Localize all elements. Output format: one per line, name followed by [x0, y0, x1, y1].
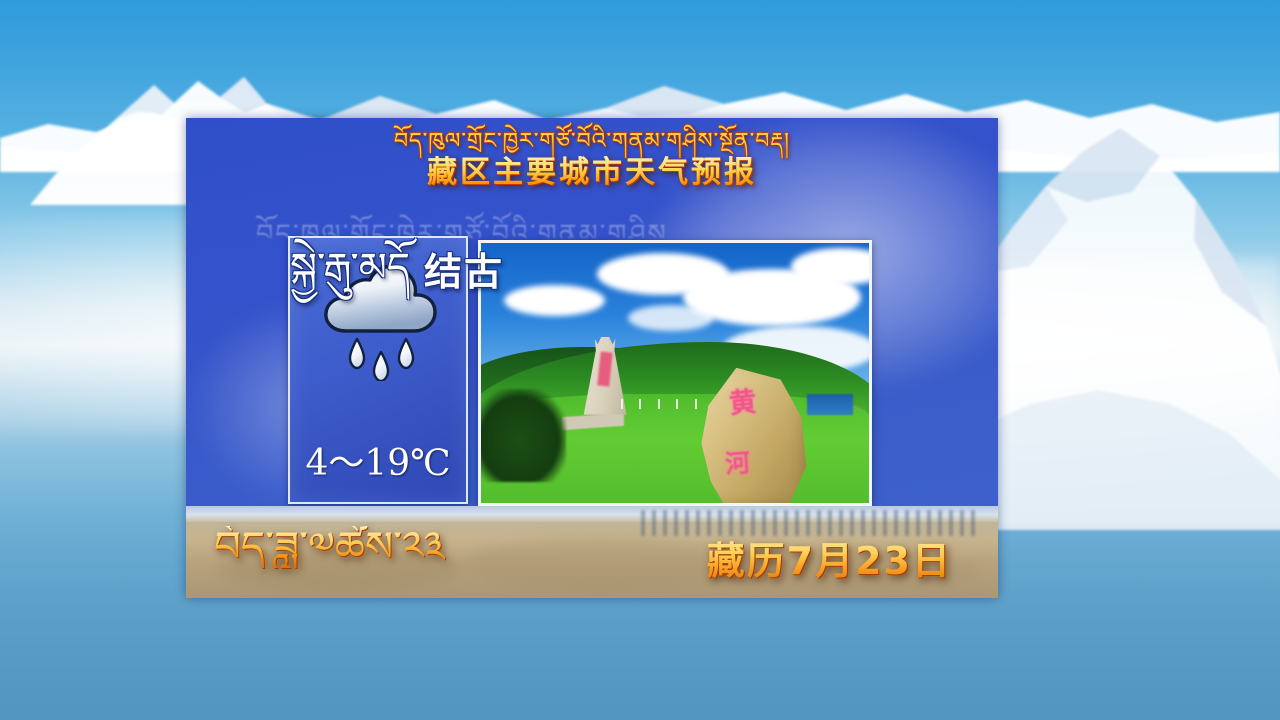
- city-name-group: སྐྱེ་རྒུ་མདོ 结古: [290, 238, 620, 298]
- photo-rock-text-line2: 河: [724, 443, 751, 481]
- photo-blue-signboard: [807, 394, 854, 415]
- panel-watermark-text: བོད་ཁུལ་གྲོང་ཁྱེར་གཙོ་བོའི་གནམ་གཤིས: [256, 204, 916, 238]
- header-chinese-title: 藏区主要城市天气预报: [427, 156, 757, 189]
- photo-bush: [481, 389, 566, 483]
- header-tibetan-title: བོད་ཁུལ་གྲོང་ཁྱེར་གཙོ་བོའི་གནམ་གཤིས་སྔོན…: [394, 129, 790, 154]
- panel-header: བོད་ཁུལ་གྲོང་ཁྱེར་གཙོ་བོའི་གནམ་གཤིས་སྔོན…: [186, 118, 998, 200]
- temperature-range: 4～19℃: [290, 434, 466, 486]
- city-name-chinese: 结古: [424, 241, 504, 296]
- footer-sand-blob: [462, 537, 738, 590]
- forecast-panel: བོད་ཁུལ་གྲོང་ཁྱེར་གཙོ་བོའི་གནམ་གཤིས བོད་…: [186, 118, 998, 598]
- photo-rock-text-line1: 黄: [728, 380, 758, 421]
- footer-tibetan-date: བོད་ཟླ་༧ཚེས་༢༣: [214, 526, 445, 568]
- footer-bar: བོད་ཟླ་༧ཚེས་༢༣ 藏历7月23日: [186, 506, 998, 598]
- broadcast-stage: བོད་ཁུལ་གྲོང་ཁྱེར་གཙོ་བོའི་གནམ་གཤིས བོད་…: [0, 0, 1280, 720]
- footer-chinese-date: 藏历7月23日: [707, 530, 952, 585]
- city-name-tibetan: སྐྱེ་རྒུ་མདོ: [290, 248, 410, 288]
